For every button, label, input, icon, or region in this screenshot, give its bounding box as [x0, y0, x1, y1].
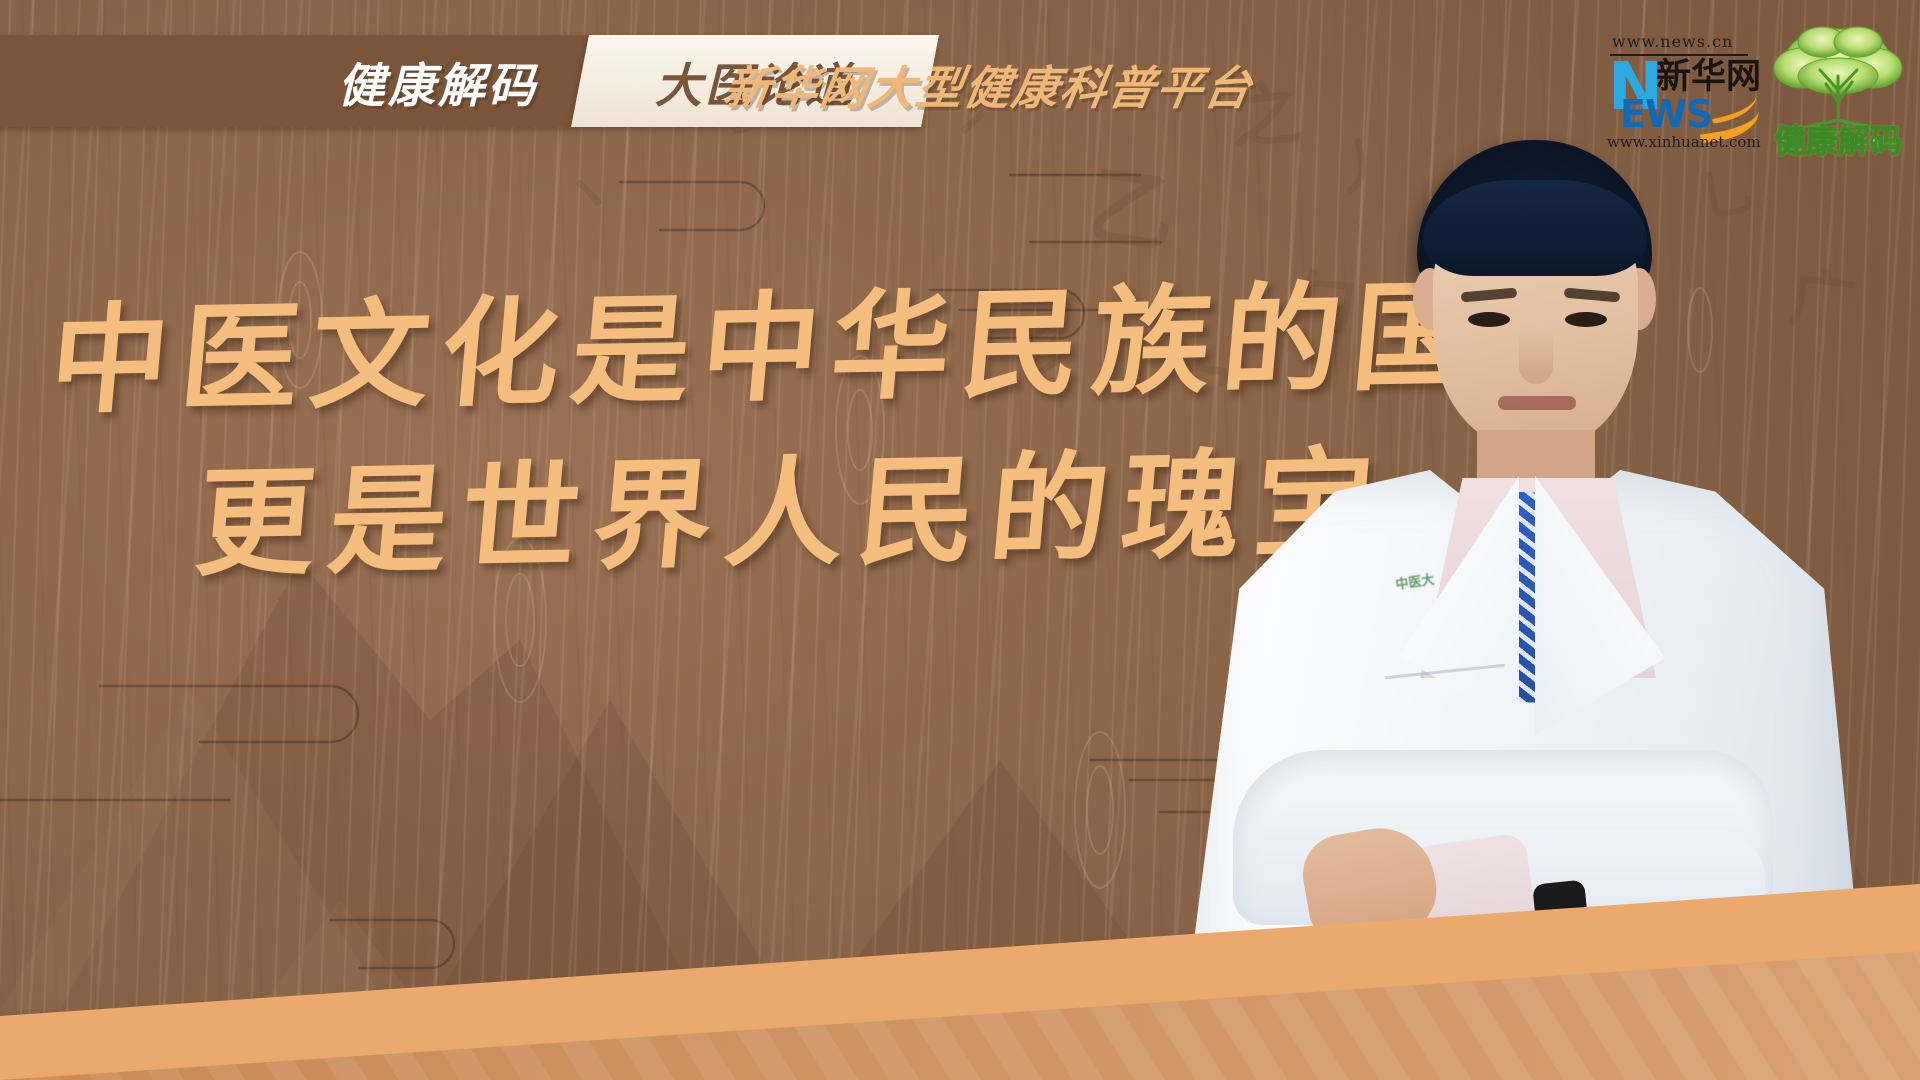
mouth: [1498, 396, 1576, 410]
hair-front: [1423, 180, 1647, 276]
eye-right: [1565, 312, 1607, 327]
header-brand-block: 健康解码: [0, 35, 589, 127]
poster-canvas: 乙 之 氵 丿 勹 彡 宀 弓 匕 卩 广 乚 丶 健康解码 大医论道 新华网大…: [0, 0, 1920, 1080]
brand-primary-label: 健康解码: [338, 47, 538, 116]
xinhua-chinese-name: 新华网: [1656, 59, 1761, 95]
xinhua-logo[interactable]: www.news.cn N 新华网 EWS www.xinhuanet.com: [1606, 32, 1761, 147]
header-tagline: 新华网大型健康科普平台: [720, 52, 1258, 118]
doctor-portrait: 中医大: [1185, 140, 1865, 1010]
eye-left: [1468, 312, 1510, 327]
nose: [1519, 330, 1553, 384]
